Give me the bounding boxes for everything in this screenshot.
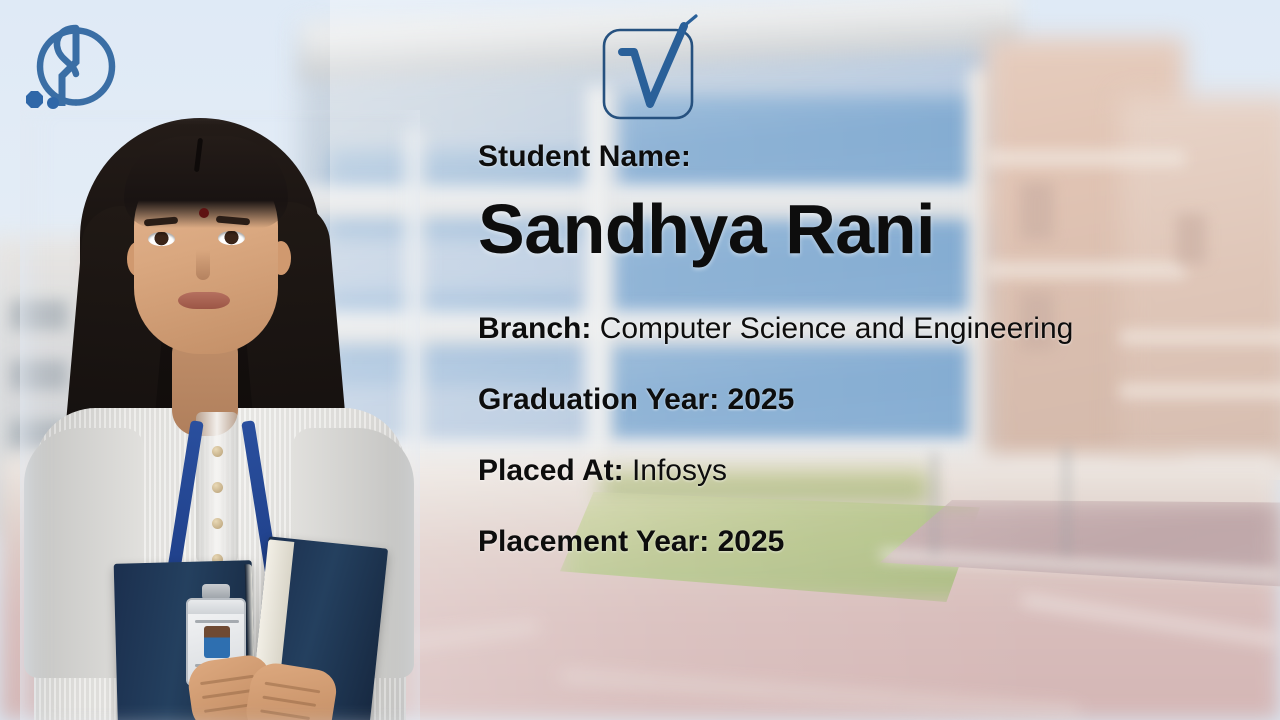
placed-at-label: Placed At: bbox=[478, 454, 632, 487]
knuckle bbox=[265, 682, 321, 694]
logo-accent-dot-large bbox=[26, 91, 43, 108]
checkmark-in-rounded-square-icon bbox=[592, 12, 708, 124]
id-badge-text-line bbox=[195, 620, 239, 623]
kurta-button bbox=[212, 482, 223, 493]
placement-year-label: Placement Year: bbox=[478, 525, 718, 558]
eye-left bbox=[148, 232, 175, 246]
student-placement-card: Student Name: Sandhya Rani Branch: Compu… bbox=[0, 0, 1280, 720]
kurta-button bbox=[212, 446, 223, 457]
branch-row: Branch: Computer Science and Engineering bbox=[478, 312, 1268, 345]
nose bbox=[196, 250, 210, 280]
knuckle bbox=[202, 689, 254, 699]
verified-check-badge bbox=[592, 12, 708, 124]
checkmark-tail bbox=[684, 16, 696, 26]
graduation-year-value: 2025 bbox=[728, 383, 795, 416]
student-photo bbox=[20, 110, 420, 720]
student-name-label: Student Name: bbox=[478, 140, 1268, 173]
eye-right bbox=[218, 231, 245, 245]
graduation-year-row: Graduation Year: 2025 bbox=[478, 383, 1268, 416]
id-badge-photo bbox=[204, 626, 230, 658]
id-badge-header bbox=[188, 600, 244, 614]
knuckle bbox=[204, 703, 252, 713]
placed-at-value: Infosys bbox=[632, 454, 727, 487]
student-name-value: Sandhya Rani bbox=[478, 191, 1268, 268]
mouth bbox=[178, 292, 230, 309]
brand-logo bbox=[14, 18, 124, 118]
logo-accent-dot-small bbox=[47, 97, 59, 109]
knuckle bbox=[262, 696, 316, 707]
graduation-year-label: Graduation Year: bbox=[478, 383, 728, 416]
checkmark-stroke bbox=[622, 26, 684, 104]
kurta-button bbox=[212, 518, 223, 529]
student-details-block: Student Name: Sandhya Rani Branch: Compu… bbox=[478, 140, 1268, 558]
knuckle bbox=[260, 709, 310, 720]
branch-label: Branch: bbox=[478, 312, 600, 345]
placement-year-value: 2025 bbox=[718, 525, 785, 558]
branch-value: Computer Science and Engineering bbox=[600, 312, 1074, 345]
bindi bbox=[199, 208, 209, 218]
circular-s-monogram-logo-icon bbox=[14, 18, 124, 118]
placement-year-row: Placement Year: 2025 bbox=[478, 525, 1268, 558]
placed-at-row: Placed At: Infosys bbox=[478, 454, 1268, 487]
knuckle bbox=[200, 675, 254, 685]
